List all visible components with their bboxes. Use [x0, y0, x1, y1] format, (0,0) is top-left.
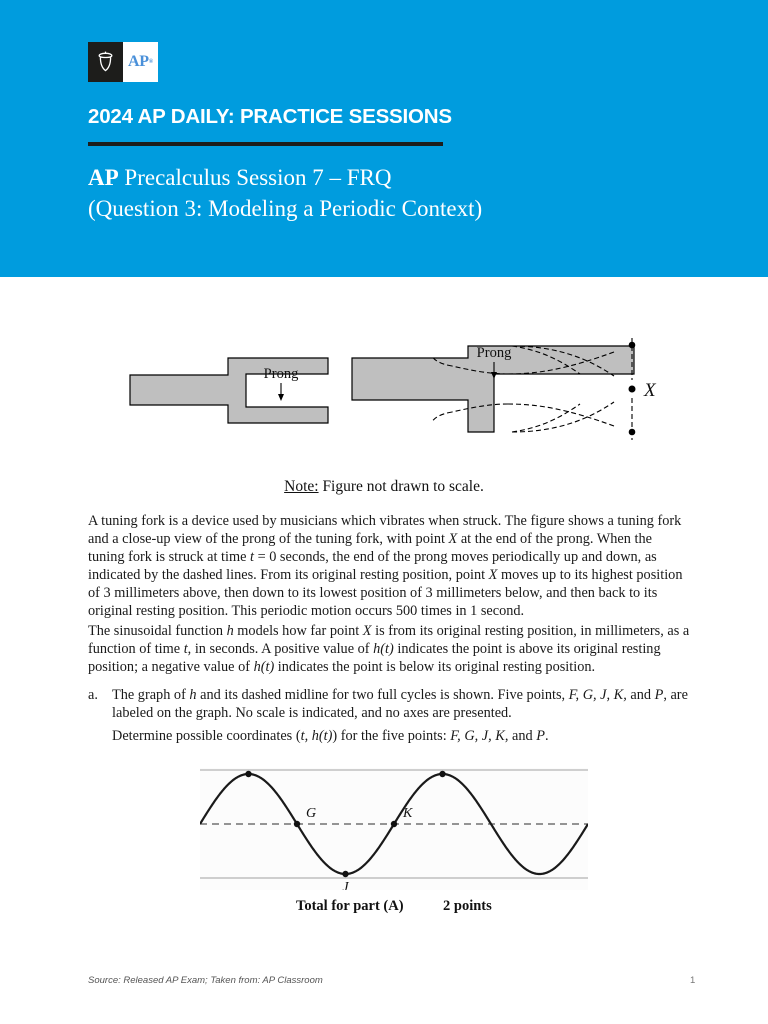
question-marker-a: a.: [88, 686, 112, 704]
p2-var-h: h: [227, 623, 234, 639]
qa1-points-fgjk: F, G, J, K,: [569, 687, 627, 703]
p2-part-2: models how far point: [234, 623, 363, 639]
graph-point-k-label: K: [402, 806, 413, 821]
question-part-a: a. The graph of h and its dashed midline…: [88, 686, 696, 745]
point-x-label: X: [643, 380, 657, 401]
qa1-part-4: and: [627, 687, 655, 703]
point-x-dot: [629, 386, 636, 393]
footer-source: Source: Released AP Exam; Taken from: AP…: [88, 975, 323, 986]
figure-note: Note: Figure not drawn to scale.: [0, 478, 768, 496]
vibration-curve-6: [508, 404, 614, 426]
title-line1-rest: Precalculus Session 7 – FRQ: [119, 165, 392, 190]
question-a-line2: Determine possible coordinates (t, h(t))…: [112, 727, 696, 745]
total-part-a-points: 2 points: [443, 898, 492, 915]
graph-point-j-label: J: [342, 880, 349, 890]
qa1-point-p: P: [655, 687, 664, 703]
qa1-part-2: and its dashed midline for two full cycl…: [197, 687, 569, 703]
ap-wordmark-text: AP: [128, 53, 149, 71]
p2-expr-ht-1: h(t): [373, 641, 394, 657]
p1-var-x-1: X: [449, 531, 458, 547]
paragraph-function-h: The sinusoidal function h models how far…: [88, 622, 690, 676]
graph-point-k-dot: [391, 821, 397, 827]
qa2-point-p: P: [536, 728, 545, 744]
graph-point-p-dot: [439, 771, 445, 777]
qa1-part-0: The graph of: [112, 687, 189, 703]
p2-part-6: , in seconds. A positive value of: [188, 641, 373, 657]
prong-label-left-group: Prong: [264, 366, 299, 401]
prong-arrowhead-left: [278, 394, 284, 401]
graph-point-f-label: F: [243, 768, 253, 770]
qa2-part-4: and: [508, 728, 536, 744]
qa2-points-fgjk: F, G, J, K,: [450, 728, 508, 744]
sinusoid-graph: FGJKP: [200, 768, 588, 890]
vibration-curve-3: [512, 402, 614, 432]
prong-top-extreme-dot: [629, 342, 636, 349]
prong-label-right: Prong: [477, 345, 512, 361]
prong-bottom-extreme-dot: [629, 429, 636, 436]
header-kicker: 2024 AP DAILY: PRACTICE SESSIONS: [88, 105, 452, 129]
tuning-fork-figure: Prong Prong: [0, 330, 768, 480]
ap-logo: AP®: [88, 42, 158, 82]
title-ap-prefix: AP: [88, 165, 119, 190]
page-header: AP® 2024 AP DAILY: PRACTICE SESSIONS AP …: [0, 0, 768, 277]
p2-expr-ht-2: h(t): [254, 659, 275, 675]
p2-var-x: X: [363, 623, 372, 639]
graph-point-f-dot: [245, 771, 251, 777]
vibration-curve-4: [512, 404, 580, 432]
qa1-var-h: h: [189, 687, 196, 703]
qa2-part-6: .: [545, 728, 549, 744]
figure-note-prefix: Note:: [284, 478, 318, 495]
header-divider: [88, 142, 443, 146]
ap-wordmark: AP®: [123, 42, 158, 82]
graph-point-g-dot: [294, 821, 300, 827]
paragraph-intro: A tuning fork is a device used by musici…: [88, 512, 690, 621]
graph-point-g-label: G: [306, 806, 316, 821]
registered-mark: ®: [149, 59, 153, 65]
vibration-curve-10: [432, 412, 452, 422]
prong-label-left: Prong: [264, 366, 299, 382]
graph-point-p-label: P: [437, 768, 447, 770]
p2-part-10: indicates the point is below its origina…: [274, 659, 595, 675]
sinusoid-graph-svg: FGJKP: [200, 768, 588, 890]
p2-part-0: The sinusoidal function: [88, 623, 227, 639]
qa2-part-0: Determine possible coordinates (: [112, 728, 301, 744]
question-a-line1: The graph of h and its dashed midline fo…: [112, 686, 696, 722]
page-title-line2: (Question 3: Modeling a Periodic Context…: [88, 193, 482, 224]
total-part-a-label: Total for part (A): [296, 898, 404, 915]
page-title-line1: AP Precalculus Session 7 – FRQ: [88, 162, 482, 193]
graph-point-j-dot: [342, 871, 348, 877]
figure-note-text: Figure not drawn to scale.: [319, 478, 484, 495]
page-title: AP Precalculus Session 7 – FRQ (Question…: [88, 162, 482, 224]
qa2-part-2: ) for the five points:: [332, 728, 450, 744]
footer-page-number: 1: [690, 975, 695, 986]
qa2-coords: t, h(t): [301, 728, 333, 744]
tuning-fork-diagram: Prong Prong: [0, 330, 768, 480]
acorn-icon: [88, 42, 123, 82]
acorn-glyph: [96, 51, 115, 73]
